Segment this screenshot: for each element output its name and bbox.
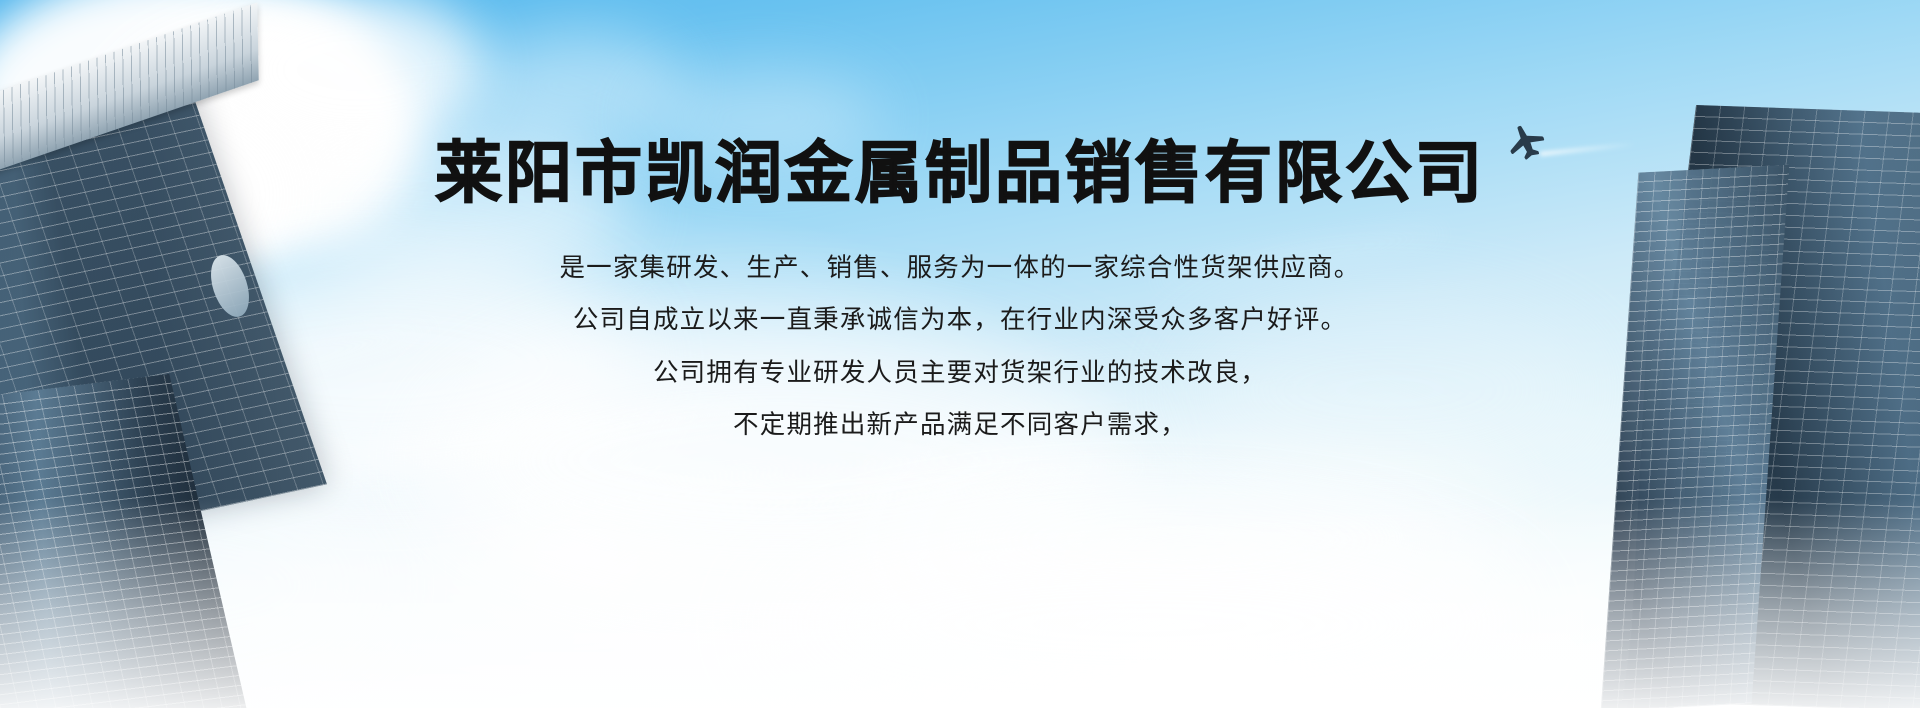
banner-text-block: 莱阳市凯润金属制品销售有限公司 是一家集研发、生产、销售、服务为一体的一家综合性… xyxy=(300,0,1620,708)
glass-grid xyxy=(1623,105,1920,708)
glass-grid xyxy=(1601,165,1790,708)
glass-grid xyxy=(0,413,172,708)
company-description: 是一家集研发、生产、销售、服务为一体的一家综合性货架供应商。 公司自成立以来一直… xyxy=(300,251,1620,443)
building-secondary-tower xyxy=(0,374,250,708)
description-line: 是一家集研发、生产、销售、服务为一体的一家综合性货架供应商。 xyxy=(559,251,1360,285)
company-name-title: 莱阳市凯润金属制品销售有限公司 xyxy=(435,138,1485,209)
description-line: 公司拥有专业研发人员主要对货架行业的技术改良， xyxy=(653,356,1267,390)
glass-grid xyxy=(0,374,250,708)
building-facade xyxy=(1623,105,1920,708)
description-line: 公司自成立以来一直秉承诚信为本，在行业内深受众多客户好评。 xyxy=(573,303,1347,337)
building-oval-window xyxy=(204,250,256,321)
building-edge-panel xyxy=(0,413,172,708)
glass-grid xyxy=(0,78,327,573)
cloud-shape xyxy=(0,95,290,295)
description-line: 不定期推出新产品满足不同客户需求， xyxy=(733,408,1187,442)
roof-ridges xyxy=(0,2,259,223)
company-hero-banner: 莱阳市凯润金属制品销售有限公司 是一家集研发、生产、销售、服务为一体的一家综合性… xyxy=(0,0,1920,708)
building-roof-slab xyxy=(0,2,259,223)
building-facade xyxy=(0,78,327,573)
building-secondary-tower xyxy=(1601,165,1790,708)
building-edge-panel xyxy=(1627,296,1695,708)
glass-skyscraper-right xyxy=(1600,108,1920,708)
